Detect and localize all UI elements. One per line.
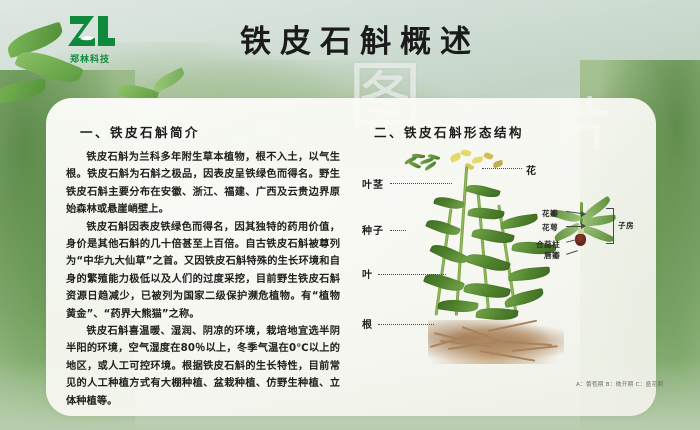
page-title: 铁皮石斛概述 — [180, 27, 540, 58]
flower-label-ovary: 子房 — [618, 220, 634, 231]
plant-label-leaf: 叶 — [362, 266, 373, 281]
plant-root-ball — [428, 320, 564, 364]
flower-cluster-icon — [448, 150, 512, 180]
section-introduction: 一、铁皮石斛简介 铁皮石斛为兰科多年附生草本植物，根不入土，以气生根。铁皮石斛为… — [58, 112, 348, 406]
poster-header: 郑林科技 铁皮石斛概述 — [0, 0, 700, 110]
zl-monogram-logo-icon — [64, 12, 116, 50]
paragraph: 铁皮石斛为兰科多年附生草本植物，根不入土，以气生根。铁皮石斛为石斛之极品，因表皮… — [66, 149, 340, 219]
section-morphology-heading: 二、铁皮石斛形态结构 — [374, 122, 644, 141]
plant-label-leaf-stem: 叶茎 — [362, 176, 384, 191]
leader-line — [566, 250, 578, 255]
paragraph: 铁皮石斛喜温暖、湿润、阴凉的环境，栽培地宜选半阴半阳的环境，空气湿度在80％以上… — [66, 323, 340, 410]
plant-leaf — [499, 213, 538, 229]
plant-label-flower: 花 — [526, 162, 537, 177]
flower-label-labellum: 唇瓣 — [544, 250, 560, 261]
flower-label-column: 合蕊柱 — [536, 239, 560, 250]
leader-dots — [378, 274, 446, 275]
leader-dots — [378, 324, 434, 325]
plant-label-root: 根 — [362, 316, 373, 331]
flower-label-sepal: 花萼 — [542, 222, 558, 233]
plant-leaf — [465, 182, 500, 201]
section-morphology: 二、铁皮石斛形态结构 — [348, 112, 644, 406]
leader-line — [566, 226, 582, 227]
content-card: 一、铁皮石斛简介 铁皮石斛为兰科多年附生草本植物，根不入土，以气生根。铁皮石斛为… — [46, 98, 656, 416]
flower-label-petal: 花瓣 — [542, 208, 558, 219]
morphology-diagram: 花 叶茎 种子 叶 根 — [348, 156, 644, 406]
leader-dots — [390, 230, 406, 231]
ovary-brace — [606, 208, 614, 244]
leader-dots — [482, 168, 522, 169]
brand-logo: 郑林科技 — [58, 12, 122, 70]
plant-label-seed: 种子 — [362, 222, 384, 237]
section-introduction-heading: 一、铁皮石斛简介 — [80, 122, 340, 141]
poster-root: 图 片 郑林科技 铁皮石斛概述 一、铁皮石斛简介 铁皮石斛为兰科多年附生草本植物… — [0, 0, 700, 430]
brand-logo-text: 郑林科技 — [58, 52, 122, 65]
figure-caption: A：蕾苞期 B：微开期 C：盛花期 — [576, 380, 700, 388]
paragraph: 铁皮石斛因表皮铁绿色而得名，因其独特的药用价值，身价是其他石斛的几十倍甚至上百倍… — [66, 219, 340, 323]
plant-leaf — [425, 216, 461, 239]
leader-dots — [390, 183, 452, 184]
seed-specimen-icon — [404, 152, 444, 170]
flower-anatomy-diagram: 花瓣 花萼 合蕊柱 唇瓣 子房 — [544, 184, 640, 274]
section-introduction-body: 铁皮石斛为兰科多年附生草本植物，根不入土，以气生根。铁皮石斛为石斛之极品，因表皮… — [66, 149, 340, 410]
plant-leaf — [429, 240, 468, 267]
